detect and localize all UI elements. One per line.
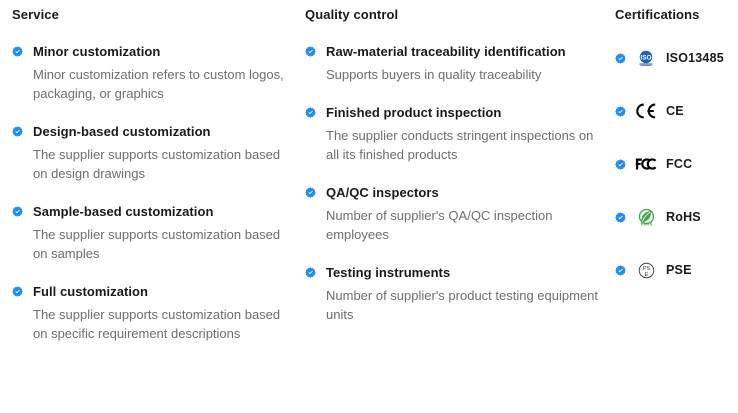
verified-badge-icon <box>305 46 316 57</box>
list-item: QA/QC inspectors Number of supplier's QA… <box>305 164 607 244</box>
verified-badge-icon <box>615 106 626 117</box>
rohs-logo-icon: RoHS <box>635 206 657 228</box>
list-item: Testing instruments Number of supplier's… <box>305 244 607 324</box>
feature-description: The supplier supports customization base… <box>12 219 297 263</box>
service-column: Service Minor customization Minor custom… <box>0 0 305 413</box>
verified-badge-icon <box>615 159 626 170</box>
feature-title-row: Design-based customization <box>12 124 297 139</box>
certification-label: RoHS <box>666 210 701 224</box>
feature-title-row: Full customization <box>12 284 297 299</box>
list-item: Sample-based customization The supplier … <box>12 183 297 263</box>
list-item: PS E PSE <box>615 259 734 281</box>
feature-title: Sample-based customization <box>33 204 213 219</box>
verified-badge-icon <box>12 46 23 57</box>
quality-control-column: Quality control Raw-material traceabilit… <box>305 0 615 413</box>
verified-badge-icon <box>12 206 23 217</box>
feature-description: The supplier supports customization base… <box>12 139 297 183</box>
certification-label: FCC <box>666 157 692 171</box>
feature-description: The supplier supports customization base… <box>12 299 297 343</box>
pse-logo-icon: PS E <box>635 259 657 281</box>
svg-text:ISO: ISO <box>640 55 651 62</box>
feature-title: Raw-material traceability identification <box>326 44 566 59</box>
feature-title: Design-based customization <box>33 124 211 139</box>
feature-description: The supplier conducts stringent inspecti… <box>305 120 606 164</box>
feature-description: Supports buyers in quality traceability <box>305 59 606 84</box>
certification-label: CE <box>666 104 684 118</box>
quality-control-item-list: Raw-material traceability identification… <box>305 22 607 324</box>
quality-control-column-header: Quality control <box>305 0 607 22</box>
verified-badge-icon <box>305 107 316 118</box>
list-item: Full customization The supplier supports… <box>12 263 297 343</box>
feature-title: Full customization <box>33 284 148 299</box>
verified-badge-icon <box>615 265 626 276</box>
feature-title: Minor customization <box>33 44 160 59</box>
verified-badge-icon <box>12 126 23 137</box>
list-item: ISO ISO13485 <box>615 47 734 69</box>
feature-description: Number of supplier's QA/QC inspection em… <box>305 200 606 244</box>
service-column-header: Service <box>12 0 297 22</box>
verified-badge-icon <box>615 212 626 223</box>
ce-logo-icon <box>635 100 657 122</box>
feature-description: Number of supplier's product testing equ… <box>305 280 606 324</box>
list-item: Finished product inspection The supplier… <box>305 84 607 164</box>
svg-text:RoHS: RoHS <box>640 221 652 226</box>
fcc-logo-icon <box>635 153 657 175</box>
list-item: Minor customization Minor customization … <box>12 22 297 103</box>
verified-badge-icon <box>305 187 316 198</box>
list-item: Raw-material traceability identification… <box>305 22 607 84</box>
feature-title-row: Testing instruments <box>305 265 607 280</box>
feature-title: QA/QC inspectors <box>326 185 439 200</box>
feature-description: Minor customization refers to custom log… <box>12 59 297 103</box>
feature-title-row: Finished product inspection <box>305 105 607 120</box>
feature-title: Testing instruments <box>326 265 450 280</box>
svg-text:PS: PS <box>642 266 650 272</box>
certification-label: PSE <box>666 263 692 277</box>
certifications-column: Certifications ISO ISO <box>615 0 738 413</box>
list-item: CE <box>615 100 734 122</box>
feature-title-row: QA/QC inspectors <box>305 185 607 200</box>
list-item: RoHS RoHS <box>615 206 734 228</box>
feature-title: Finished product inspection <box>326 105 501 120</box>
verified-badge-icon <box>305 267 316 278</box>
feature-title-row: Sample-based customization <box>12 204 297 219</box>
certification-label: ISO13485 <box>666 51 724 65</box>
feature-title-row: Raw-material traceability identification <box>305 44 607 59</box>
svg-text:E: E <box>644 272 648 278</box>
certification-list: ISO ISO13485 <box>615 47 734 281</box>
service-item-list: Minor customization Minor customization … <box>12 22 297 343</box>
list-item: FCC <box>615 153 734 175</box>
feature-title-row: Minor customization <box>12 44 297 59</box>
verified-badge-icon <box>615 53 626 64</box>
verified-badge-icon <box>12 286 23 297</box>
list-item: Design-based customization The supplier … <box>12 103 297 183</box>
certifications-column-header: Certifications <box>615 0 734 22</box>
supplier-capabilities-panel: Service Minor customization Minor custom… <box>0 0 738 413</box>
iso-logo-icon: ISO <box>635 47 657 69</box>
